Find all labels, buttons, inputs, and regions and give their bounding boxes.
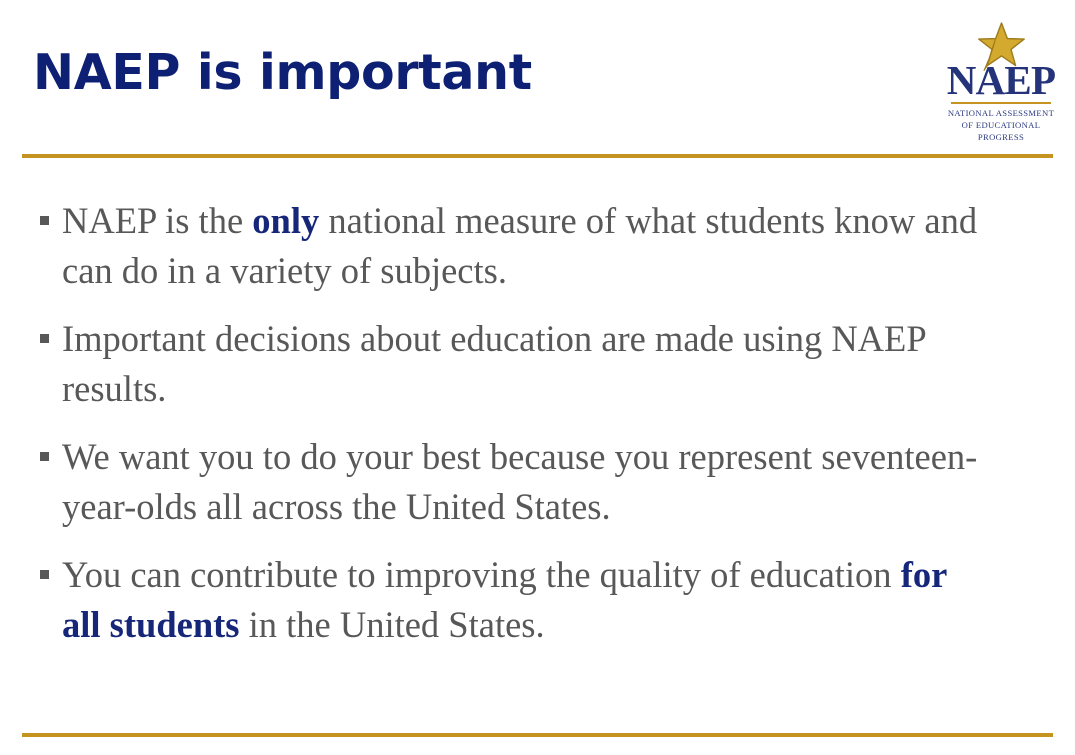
list-item: You can contribute to improving the qual…: [36, 550, 981, 650]
header-divider-rule: [22, 154, 1053, 158]
bullet-list: NAEP is the only national measure of wha…: [36, 196, 981, 650]
naep-subtitle-line-1: NATIONAL ASSESSMENT: [942, 107, 1060, 119]
square-bullet-icon: [40, 570, 49, 579]
list-item-text: You can contribute to improving the qual…: [62, 554, 947, 645]
list-item: We want you to do your best because you …: [36, 432, 981, 532]
list-item: Important decisions about education are …: [36, 314, 981, 414]
slide: NAEP is important NAEP NATIONAL ASSESSME…: [0, 0, 1075, 755]
slide-header: NAEP is important NAEP NATIONAL ASSESSME…: [0, 0, 1075, 158]
square-bullet-icon: [40, 334, 49, 343]
naep-logo-subtitle: NATIONAL ASSESSMENT OF EDUCATIONAL PROGR…: [942, 107, 1060, 144]
naep-wordmark: NAEP: [942, 60, 1060, 101]
square-bullet-icon: [40, 216, 49, 225]
list-item: NAEP is the only national measure of wha…: [36, 196, 981, 296]
naep-subtitle-line-2: OF EDUCATIONAL: [942, 119, 1060, 131]
page-title: NAEP is important: [33, 47, 532, 98]
square-bullet-icon: [40, 452, 49, 461]
naep-logo: NAEP NATIONAL ASSESSMENT OF EDUCATIONAL …: [942, 21, 1060, 141]
list-item-text: We want you to do your best because you …: [62, 436, 977, 527]
logo-divider: [951, 102, 1051, 104]
naep-subtitle-line-3: PROGRESS: [942, 131, 1060, 143]
list-item-text: NAEP is the only national measure of wha…: [62, 200, 977, 291]
footer-divider-rule: [22, 733, 1053, 737]
list-item-text: Important decisions about education are …: [62, 318, 925, 409]
